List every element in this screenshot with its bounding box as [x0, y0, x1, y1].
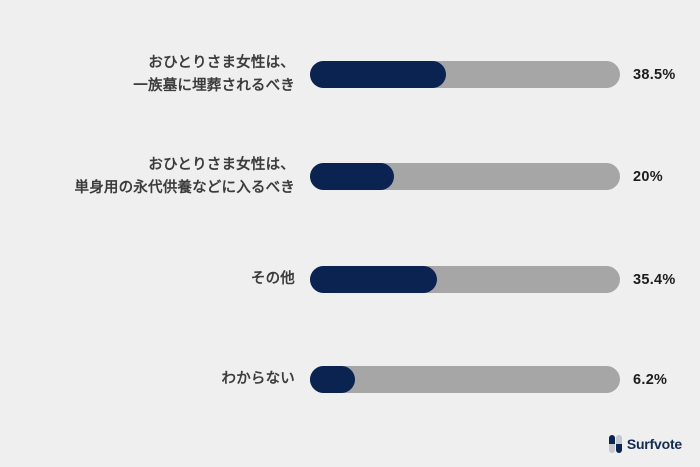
chart-row-value: 38.5%	[633, 67, 676, 83]
chart-row-label: おひとりさま女性は、 単身用の永代供養などに入るべき	[0, 154, 295, 198]
bar-fill	[310, 163, 394, 190]
chart-row: わからない6.2%	[0, 366, 700, 394]
chart-row: おひとりさま女性は、 単身用の永代供養などに入るべき20%	[0, 163, 700, 191]
chart-row-value: 35.4%	[633, 272, 676, 288]
chart-row-value: 20%	[633, 169, 663, 185]
surfvote-wordmark: Surfvote	[627, 436, 682, 452]
bar-track	[310, 163, 620, 190]
horizontal-bar-chart: おひとりさま女性は、 一族墓に埋葬されるべき38.5%おひとりさま女性は、 単身…	[0, 0, 700, 467]
bar-fill	[310, 366, 355, 393]
chart-row: その他35.4%	[0, 266, 700, 294]
bar-fill	[310, 266, 437, 293]
chart-row-label: わからない	[0, 368, 295, 390]
surfvote-mark-icon	[609, 435, 622, 453]
bar-track	[310, 366, 620, 393]
chart-row-label: その他	[0, 268, 295, 290]
surfvote-logo: Surfvote	[609, 435, 682, 453]
chart-row-label: おひとりさま女性は、 一族墓に埋葬されるべき	[0, 52, 295, 96]
bar-fill	[310, 61, 446, 88]
bar-track	[310, 61, 620, 88]
chart-row-value: 6.2%	[633, 372, 667, 388]
bar-track	[310, 266, 620, 293]
chart-row: おひとりさま女性は、 一族墓に埋葬されるべき38.5%	[0, 61, 700, 89]
